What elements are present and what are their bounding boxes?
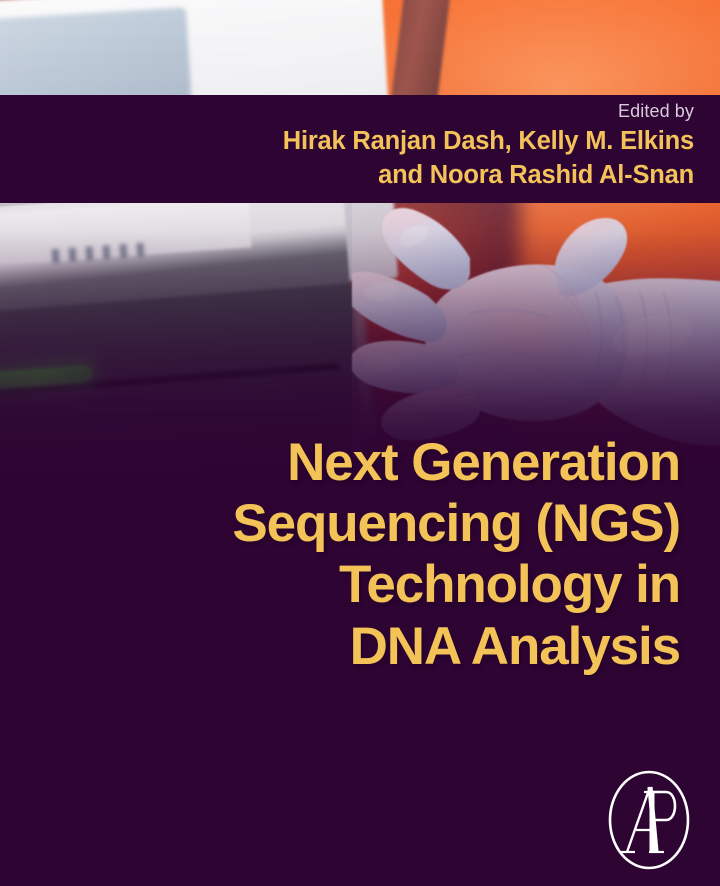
book-title: Next Generation Sequencing (NGS) Technol…: [20, 432, 680, 677]
cover-photograph: [0, 0, 720, 480]
book-cover: Edited by Hirak Ranjan Dash, Kelly M. El…: [0, 0, 720, 886]
title-line-2: Sequencing (NGS): [20, 493, 680, 554]
editor-names-line-2: and Noora Rashid Al-Snan: [34, 159, 694, 193]
editor-names-line-1: Hirak Ranjan Dash, Kelly M. Elkins: [34, 125, 694, 159]
edited-by-label: Edited by: [618, 101, 694, 123]
title-line-3: Technology in: [20, 554, 680, 615]
title-line-4: DNA Analysis: [20, 616, 680, 677]
editor-band: Edited by Hirak Ranjan Dash, Kelly M. El…: [0, 95, 720, 203]
gloved-hand: [352, 196, 720, 466]
title-line-1: Next Generation: [20, 432, 680, 493]
editor-names: Hirak Ranjan Dash, Kelly M. Elkins and N…: [34, 125, 694, 193]
academic-press-logo: [606, 768, 692, 872]
